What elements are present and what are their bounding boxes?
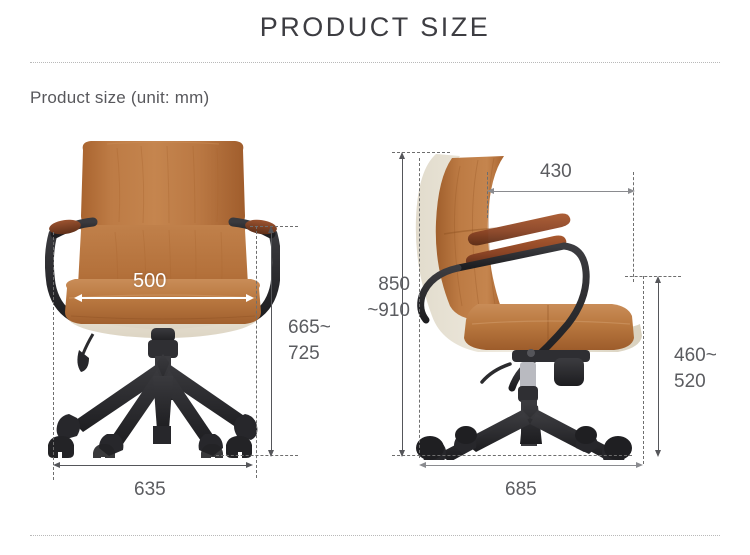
extension-line-front-bottom: [216, 455, 298, 456]
dim-label-front-seat-height: 665~ 725: [288, 315, 348, 367]
extension-line-side-seat-top: [625, 276, 681, 277]
seat-width-line: [80, 297, 248, 299]
side-base-arrow-left: [419, 462, 426, 468]
dim-label-side-seat-height: 460~ 520: [674, 343, 740, 395]
front-width-arrow-left: [53, 462, 60, 468]
extension-line-front-left: [53, 232, 54, 480]
chair-side-view: [408, 148, 653, 460]
dim-line-side-base-depth: [424, 465, 638, 466]
divider-bottom: [30, 535, 720, 536]
side-depth-arrow-left: [487, 188, 494, 194]
dim-label-front-base-width: 635: [134, 477, 166, 503]
side-height-arrow-bottom: [399, 450, 405, 457]
seat-width-arrow-right: [246, 294, 254, 302]
dim-line-front-width: [58, 465, 251, 466]
dim-label-side-base-depth: 685: [505, 477, 537, 503]
side-seat-height-arrow-bottom: [655, 450, 661, 457]
dim-label-front-seat-width: 500: [133, 268, 166, 294]
side-height-arrow-top: [399, 152, 405, 159]
dim-label-side-total-height: 850 ~910: [352, 272, 410, 324]
extension-line-side-bottom: [392, 455, 632, 456]
dim-line-side-seat-height: [658, 281, 659, 450]
extension-line-front-top: [250, 226, 298, 227]
side-base-arrow-right: [636, 462, 643, 468]
page-title: PRODUCT SIZE: [0, 12, 750, 43]
product-size-page: PRODUCT SIZE Product size (unit: mm): [0, 0, 750, 555]
dim-line-front-height: [271, 231, 272, 450]
seat-width-arrow-left: [74, 294, 82, 302]
front-height-arrow-bottom: [268, 450, 274, 457]
side-depth-arrow-right: [628, 188, 635, 194]
extension-line-side-right: [643, 276, 644, 464]
dim-line-side-depth: [492, 191, 628, 192]
extension-line-front-right: [256, 226, 257, 478]
dim-label-side-seat-depth: 430: [540, 159, 572, 185]
extension-line-side-depth-left: [487, 172, 488, 218]
divider-top: [30, 62, 720, 63]
side-seat-height-arrow-top: [655, 276, 661, 283]
subtitle-unit-note: Product size (unit: mm): [30, 88, 209, 108]
extension-line-side-left: [419, 158, 420, 458]
front-width-arrow-right: [246, 462, 253, 468]
front-height-arrow-top: [268, 226, 274, 233]
